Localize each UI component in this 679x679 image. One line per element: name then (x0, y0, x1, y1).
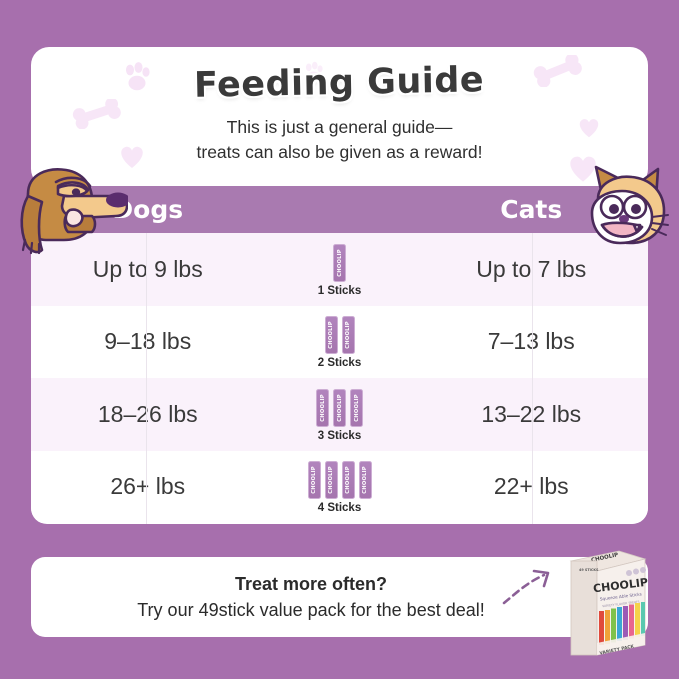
treat-stick-brand: CHOOLIP (354, 394, 360, 421)
table-row: 9–18 lbsCHOOLIPCHOOLIP2 Sticks7–13 lbs (31, 306, 648, 379)
treat-stick-brand: CHOOLIP (345, 322, 351, 349)
subtitle-line-2: treats can also be given as a reward! (31, 140, 648, 165)
treat-stick-brand: CHOOLIP (345, 467, 351, 494)
treat-stick-brand: CHOOLIP (328, 322, 334, 349)
dog-weight-cell: Up to 9 lbs (31, 256, 265, 283)
dog-weight-cell: 18–26 lbs (31, 401, 265, 428)
treat-stick-brand: CHOOLIP (328, 467, 334, 494)
treat-stick-brand: CHOOLIP (337, 249, 343, 276)
dog-weight-cell: 9–18 lbs (31, 328, 265, 355)
stick-amount-cell: CHOOLIPCHOOLIPCHOOLIPCHOOLIP4 Sticks (265, 459, 415, 514)
treat-stick-icon: CHOOLIP (325, 461, 338, 499)
treat-stick-group: CHOOLIPCHOOLIP (325, 314, 355, 354)
feeding-table-card: Dogs Cats Up to 9 lbsCHOOLIP1 SticksUp t… (31, 186, 648, 524)
column-divider-left (146, 233, 147, 524)
treat-stick-brand: CHOOLIP (320, 394, 326, 421)
treat-stick-brand: CHOOLIP (337, 394, 343, 421)
stick-count-caption: 4 Sticks (318, 502, 361, 514)
header-card: Feeding Guide This is just a general gui… (31, 47, 648, 187)
stick-amount-cell: CHOOLIPCHOOLIPCHOOLIP3 Sticks (265, 387, 415, 442)
treat-stick-group: CHOOLIPCHOOLIPCHOOLIP (316, 387, 363, 427)
treat-stick-icon: CHOOLIP (342, 316, 355, 354)
treat-stick-icon: CHOOLIP (316, 389, 329, 427)
treat-stick-icon: CHOOLIP (359, 461, 372, 499)
promo-subline: Try our 49stick value pack for the best … (71, 597, 551, 623)
table-row: 26+ lbsCHOOLIPCHOOLIPCHOOLIPCHOOLIP4 Sti… (31, 451, 648, 524)
page-title: Feeding Guide (194, 60, 485, 106)
header-subtitle: This is just a general guide— treats can… (31, 115, 648, 165)
column-header-dogs: Dogs (31, 195, 265, 224)
treat-stick-brand: CHOOLIP (311, 467, 317, 494)
treat-stick-icon: CHOOLIP (333, 389, 346, 427)
table-row: Up to 9 lbsCHOOLIP1 SticksUp to 7 lbs (31, 233, 648, 306)
table-row: 18–26 lbsCHOOLIPCHOOLIPCHOOLIP3 Sticks13… (31, 378, 648, 451)
treat-stick-icon: CHOOLIP (333, 244, 346, 282)
subtitle-line-1: This is just a general guide— (31, 115, 648, 140)
treat-stick-icon: CHOOLIP (325, 316, 338, 354)
product-box-image[interactable]: CHOOLIP CHOOLIP Squeeze Able Sticks VARI… (557, 545, 649, 657)
column-header-cats: Cats (415, 195, 649, 224)
treat-stick-group: CHOOLIP (333, 242, 346, 282)
page-title-wrap: Feeding Guide (31, 63, 648, 103)
svg-text:49 STICKS: 49 STICKS (579, 568, 599, 572)
column-divider-right (532, 233, 533, 524)
table-body: Up to 9 lbsCHOOLIP1 SticksUp to 7 lbs9–1… (31, 233, 648, 523)
stick-amount-cell: CHOOLIPCHOOLIP2 Sticks (265, 314, 415, 369)
promo-text: Treat more often? Try our 49stick value … (71, 571, 551, 623)
treat-stick-icon: CHOOLIP (308, 461, 321, 499)
promo-headline: Treat more often? (71, 571, 551, 597)
treat-stick-brand: CHOOLIP (362, 467, 368, 494)
stick-count-caption: 3 Sticks (318, 430, 361, 442)
treat-stick-icon: CHOOLIP (342, 461, 355, 499)
treat-stick-group: CHOOLIPCHOOLIPCHOOLIPCHOOLIP (308, 459, 372, 499)
treat-stick-icon: CHOOLIP (350, 389, 363, 427)
dog-weight-cell: 26+ lbs (31, 473, 265, 500)
stick-amount-cell: CHOOLIP1 Sticks (265, 242, 415, 297)
stick-count-caption: 2 Sticks (318, 357, 361, 369)
stick-count-caption: 1 Sticks (318, 285, 361, 297)
curved-arrow-icon (500, 565, 562, 607)
table-header-row: Dogs Cats (31, 186, 648, 233)
